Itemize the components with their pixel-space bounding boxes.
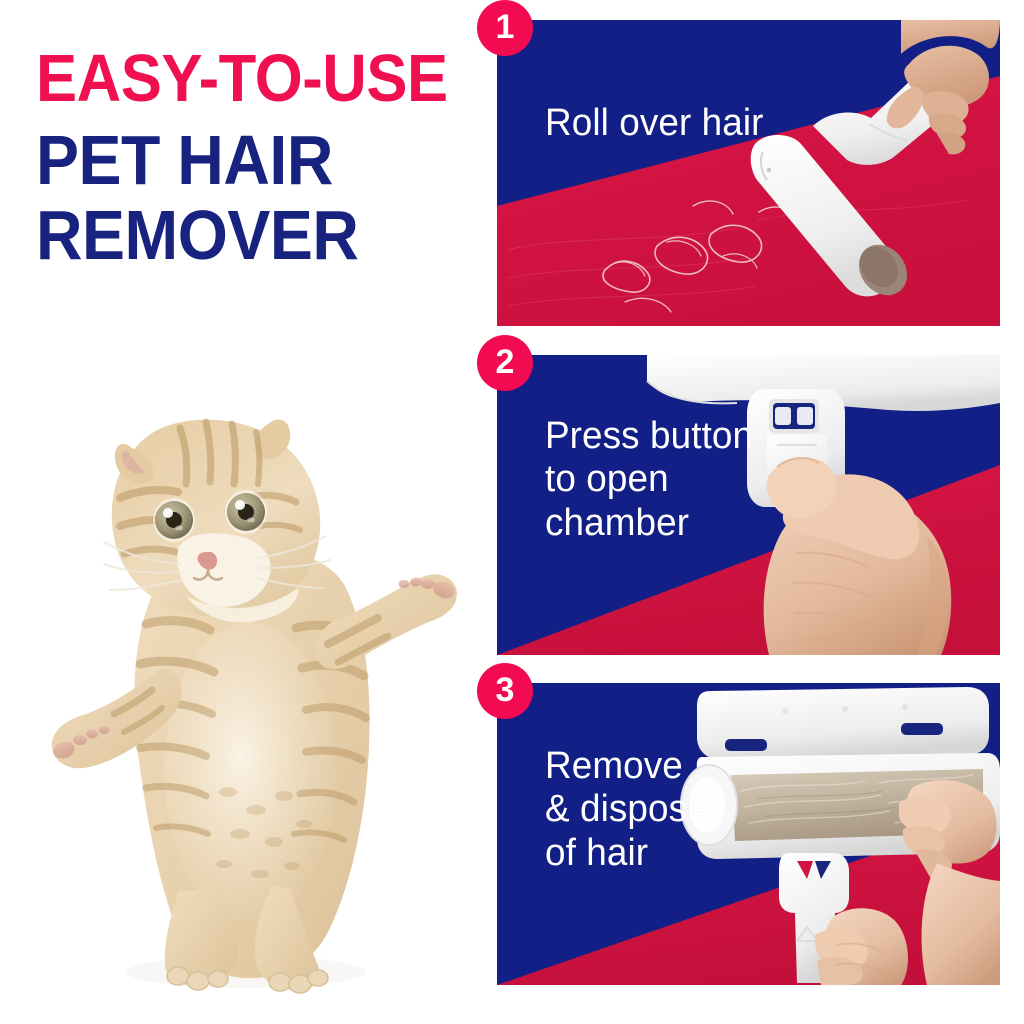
roller-over-red-fabric-photo (497, 20, 1000, 326)
headline-block: EASY-TO-USE PET HAIR REMOVER (36, 46, 466, 275)
step-caption-3: Remove & dispose of hair (545, 745, 708, 875)
step-caption-2: Press button to open chamber (545, 415, 753, 545)
hero-kitten-photo (28, 372, 464, 996)
step-panel-1: 1 Roll over hair (497, 20, 1000, 326)
headline-line-3: REMOVER (36, 201, 432, 270)
kitten-illustration (28, 372, 464, 996)
step-panel-1-image (497, 20, 1000, 326)
step-badge-1: 1 (477, 0, 533, 56)
headline-line-1: EASY-TO-USE (36, 46, 432, 112)
step-caption-1: Roll over hair (545, 102, 764, 145)
infographic-canvas: EASY-TO-USE PET HAIR REMOVER (0, 0, 1024, 1024)
step-badge-2: 2 (477, 335, 533, 391)
step-badge-3: 3 (477, 663, 533, 719)
headline-line-2: PET HAIR (36, 126, 432, 195)
step-panel-3: 3 Remove & dispose of hair (497, 683, 1000, 985)
step-panel-2: 2 Press button to open chamber (497, 355, 1000, 655)
